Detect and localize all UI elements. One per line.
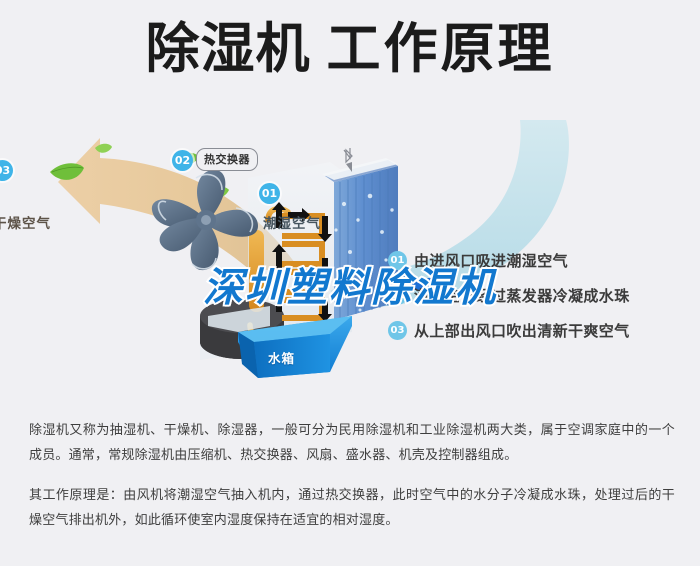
watermark-overlay: 深圳塑料除湿机 (0, 268, 700, 308)
list-item: 03 从上部出风口吹出清新干爽空气 (388, 316, 688, 345)
label-dry-air: 干燥空气 (0, 212, 51, 232)
diagram-badge-01: 01 (259, 183, 280, 204)
page-root: 除湿机工作原理 (0, 0, 700, 566)
description-paragraph-1: 除湿机又称为抽湿机、干燥机、除湿器，一般可分为民用除湿机和工业除湿机两大类，属于… (29, 418, 675, 468)
title-part-secondary: 工作原理 (327, 22, 555, 76)
description-paragraph-2: 其工作原理是：由风机将潮湿空气抽入机内，通过热交换器，此时空气中的水分子冷凝成水… (29, 483, 675, 533)
diagram-badge-02: 02 (172, 150, 193, 171)
description-block: 除湿机又称为抽湿机、干燥机、除湿器，一般可分为民用除湿机和工业除湿机两大类，属于… (29, 418, 675, 533)
heat-exchanger-callout: 热交换器 (196, 148, 258, 171)
label-humid-air: 潮湿空气 (263, 212, 321, 232)
watermark-text: 深圳塑料除湿机 (203, 268, 497, 308)
title-part-primary: 除湿机 (146, 22, 311, 76)
step-label: 从上部出风口吹出清新干爽空气 (414, 320, 630, 341)
page-title: 除湿机工作原理 (0, 22, 700, 76)
step-number: 03 (388, 321, 407, 340)
label-water-tank: 水箱 (268, 348, 295, 367)
